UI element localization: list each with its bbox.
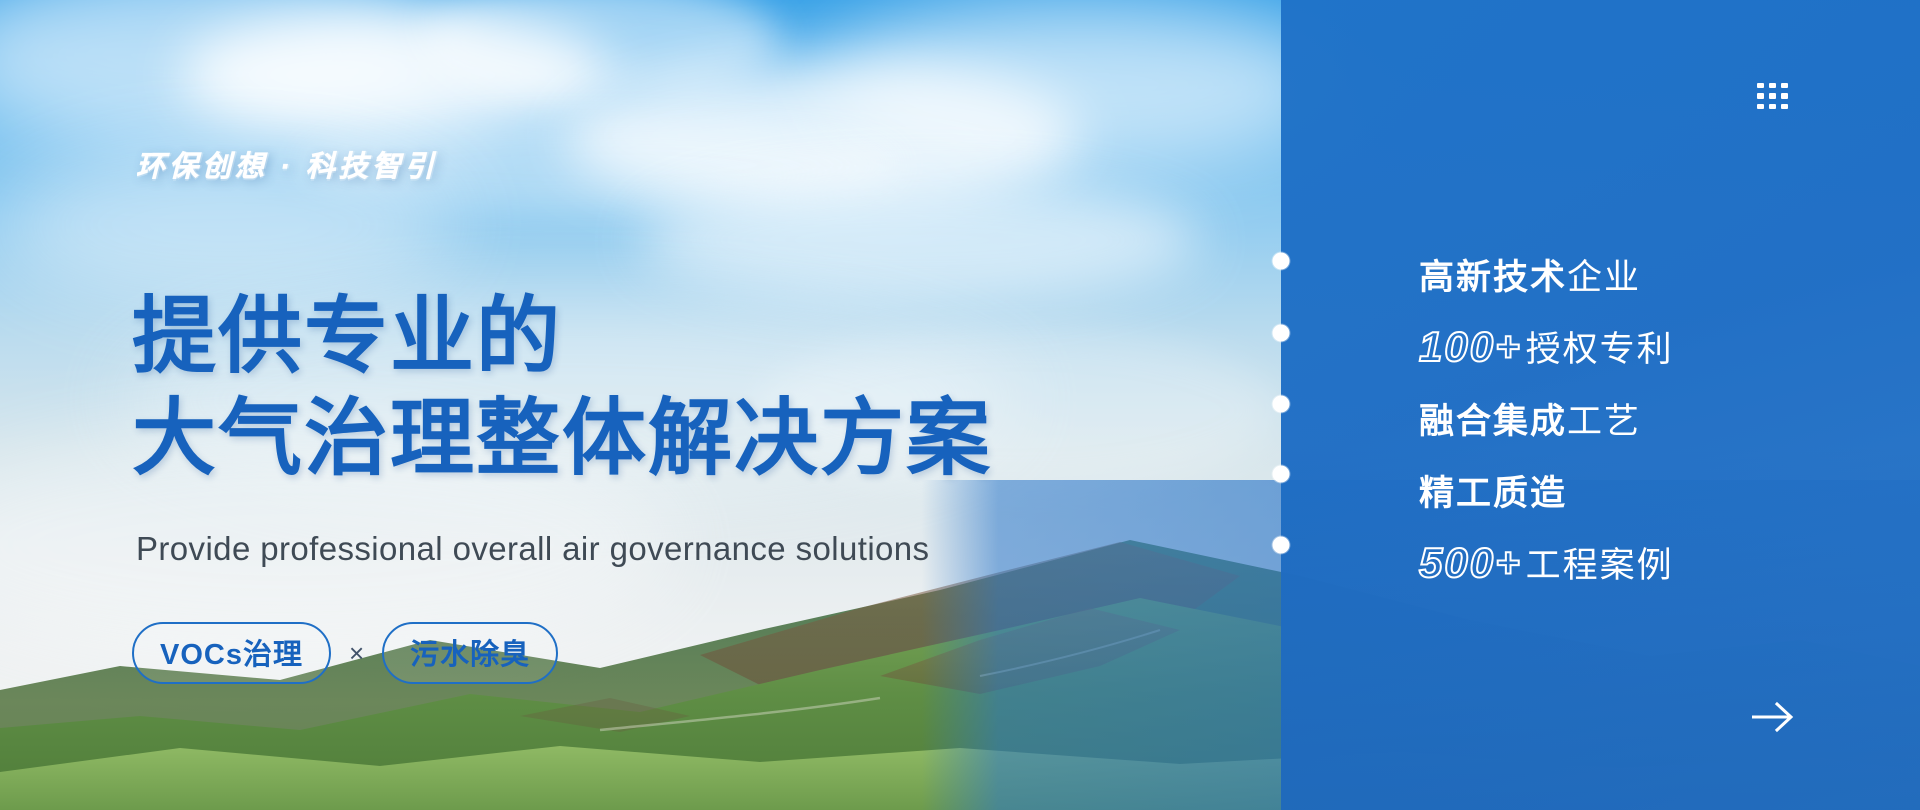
feature-light: 企业 <box>1567 258 1641 297</box>
subtitle-english: Provide professional overall air governa… <box>136 530 929 568</box>
grid-dot <box>1757 83 1764 88</box>
tag-group: VOCs治理 × 污水除臭 <box>132 622 558 684</box>
feature-item-patents: 100+授权专利 <box>1419 310 1879 382</box>
eyebrow-tagline: 环保创想 · 科技智引 <box>136 143 438 185</box>
page-title: 提供专业的 大气治理整体解决方案 <box>132 285 992 490</box>
grid-dot <box>1769 93 1776 98</box>
hero-banner: 环保创想 · 科技智引 提供专业的 大气治理整体解决方案 Provide pro… <box>0 0 1920 810</box>
grid-dot <box>1769 83 1776 88</box>
tag-separator: × <box>349 638 364 669</box>
feature-item-process: 融合集成工艺 <box>1419 382 1879 454</box>
grid-dot <box>1757 93 1764 98</box>
arrow-right-icon[interactable] <box>1750 700 1796 734</box>
feature-strong: 高新技术 <box>1419 258 1567 297</box>
seam-dot <box>1273 325 1290 342</box>
grid-menu-icon[interactable] <box>1757 83 1788 109</box>
feature-label: 授权专利 <box>1526 330 1674 369</box>
grid-dot <box>1781 83 1788 88</box>
seam-dot <box>1273 466 1290 483</box>
tag-pill-odor[interactable]: 污水除臭 <box>382 622 558 684</box>
feature-item-quality: 精工质造 <box>1419 454 1879 526</box>
headline-line-1: 提供专业的 <box>132 289 562 383</box>
grid-dot <box>1781 93 1788 98</box>
feature-light: 工艺 <box>1567 402 1641 441</box>
left-content: 环保创想 · 科技智引 提供专业的 大气治理整体解决方案 Provide pro… <box>0 0 1281 810</box>
feature-number: 500+ <box>1419 539 1522 586</box>
feature-list: 高新技术企业 100+授权专利 融合集成工艺 精工质造 500+工程案例 <box>1419 238 1879 598</box>
headline-line-2: 大气治理整体解决方案 <box>132 387 992 489</box>
seam-dot <box>1273 253 1290 270</box>
seam-dot <box>1273 396 1290 413</box>
grid-dot <box>1781 104 1788 109</box>
tag-pill-vocs[interactable]: VOCs治理 <box>132 622 331 684</box>
feature-strong: 融合集成 <box>1419 402 1567 441</box>
feature-strong: 精工质造 <box>1419 474 1567 513</box>
feature-number: 100+ <box>1419 323 1522 370</box>
feature-item-projects: 500+工程案例 <box>1419 526 1879 598</box>
feature-item-hitech: 高新技术企业 <box>1419 238 1879 310</box>
feature-label: 工程案例 <box>1526 546 1674 585</box>
grid-dot <box>1757 104 1764 109</box>
seam-dot <box>1273 537 1290 554</box>
grid-dot <box>1769 104 1776 109</box>
